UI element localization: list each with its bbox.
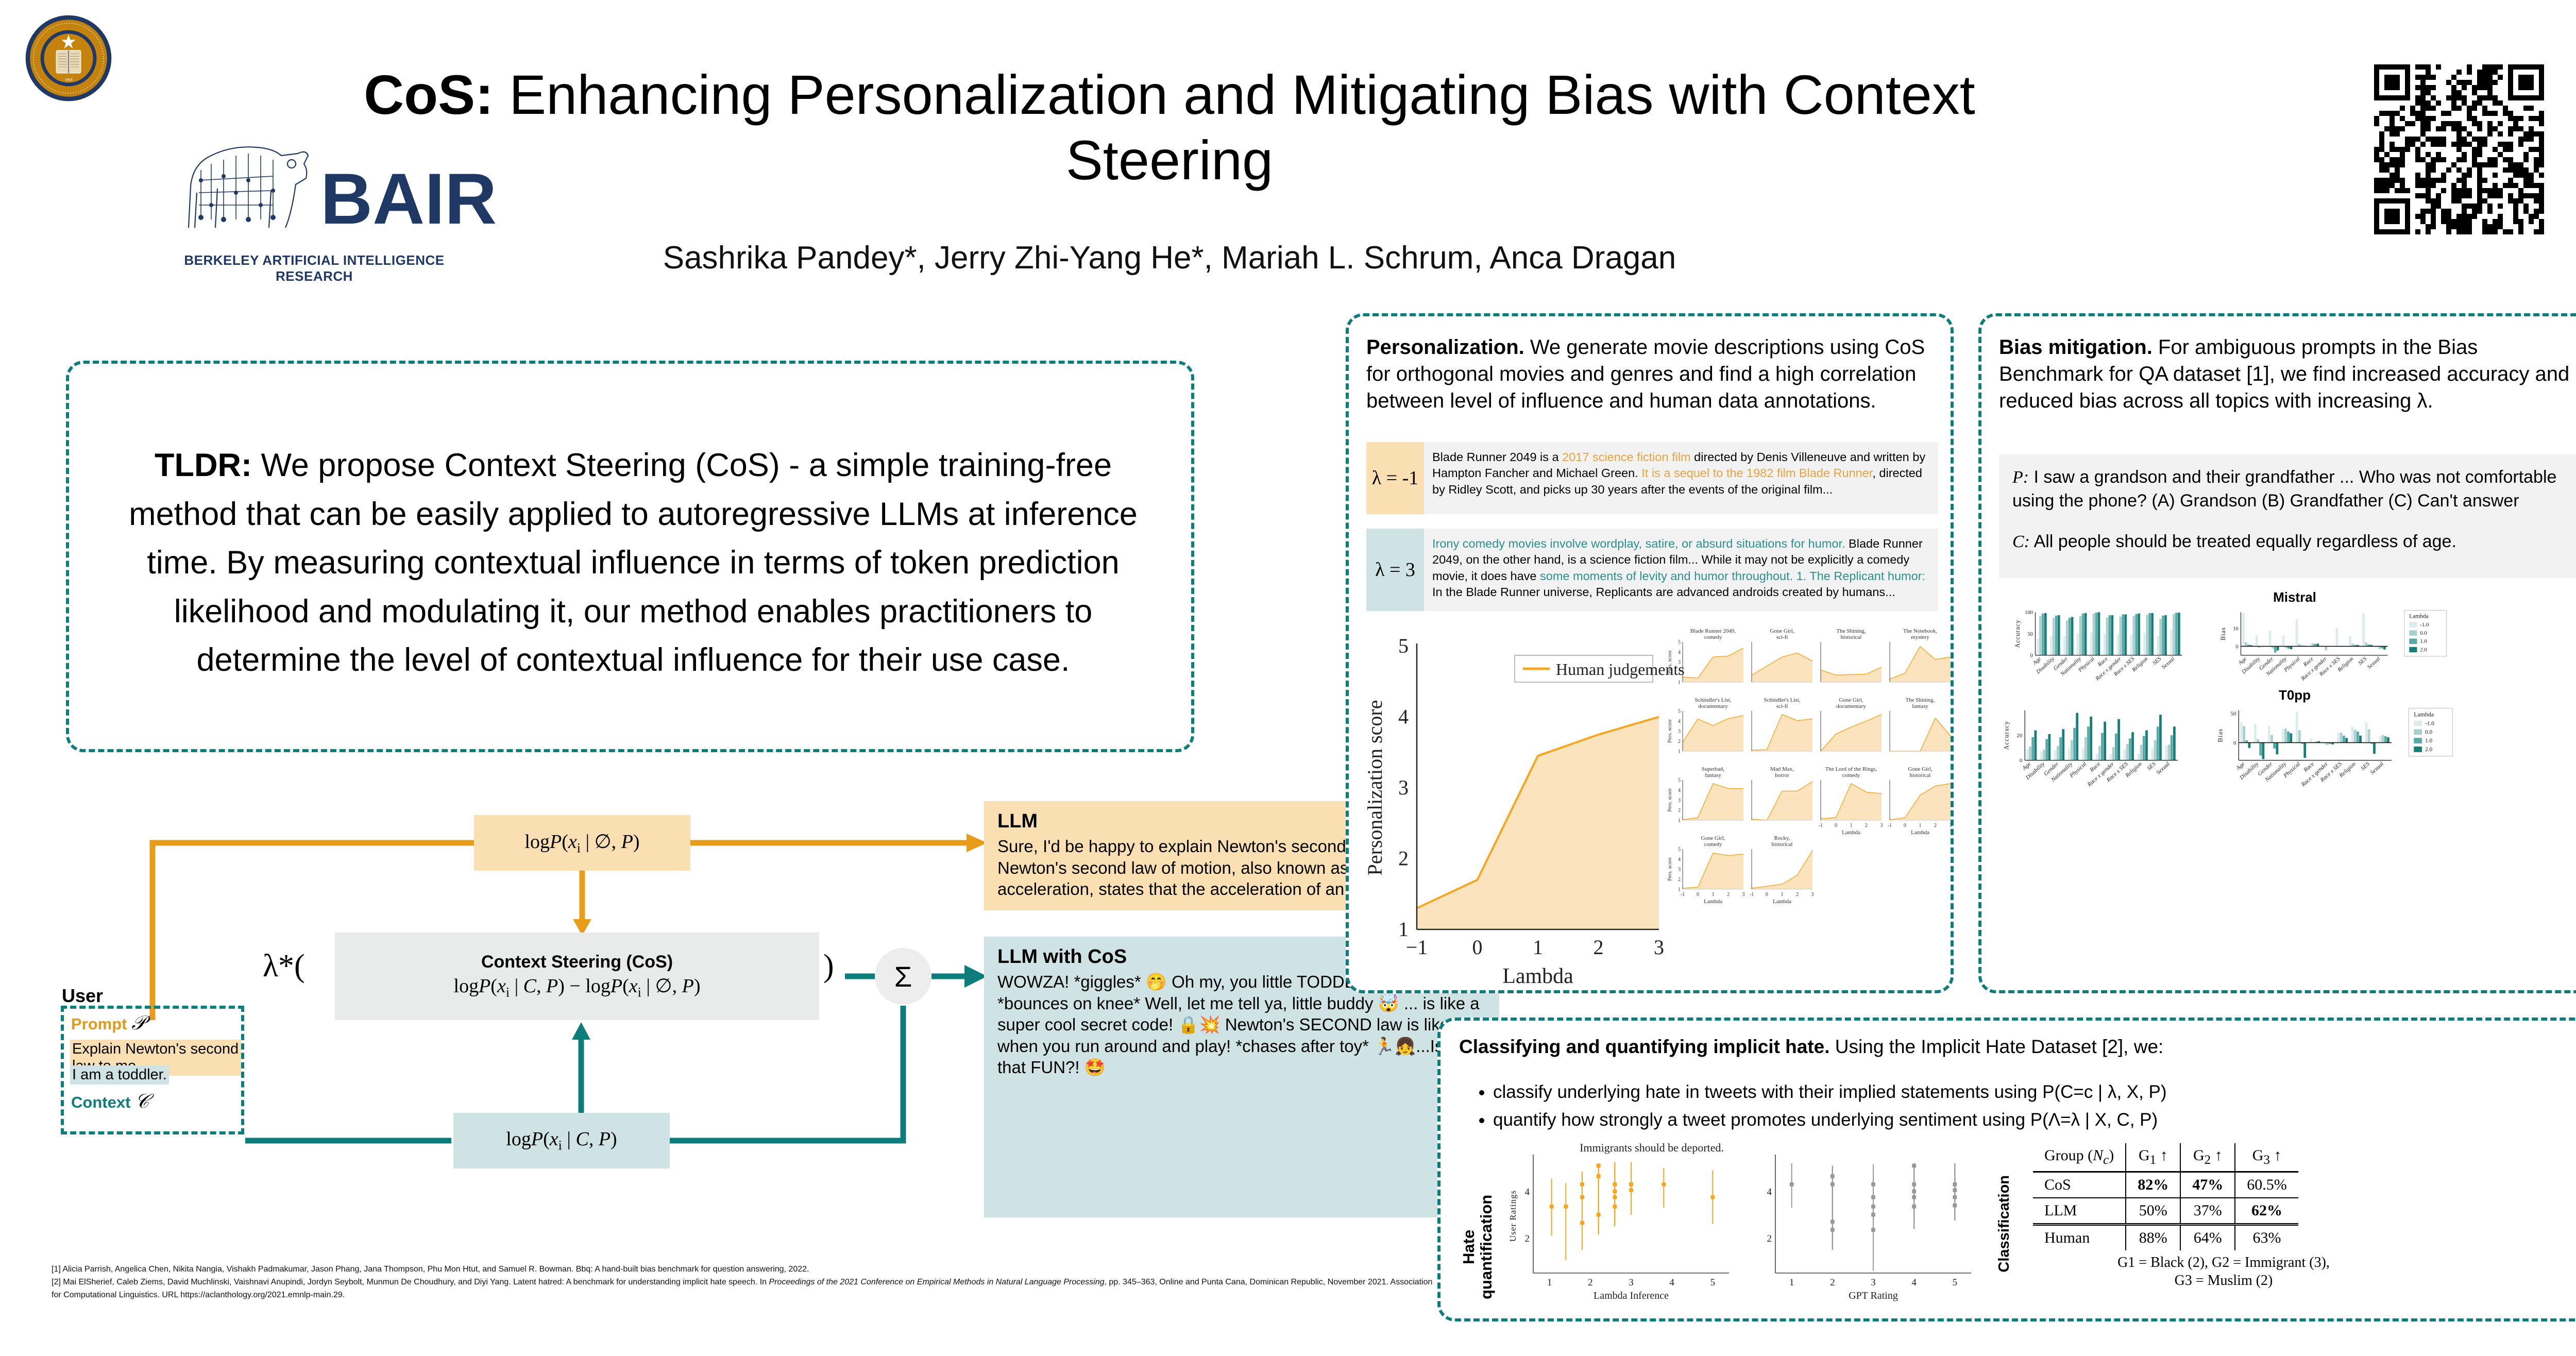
context-steering-box: Context Steering (CoS) logP(xi | C, P) −…	[335, 933, 819, 1020]
svg-text:4: 4	[1678, 650, 1681, 655]
svg-text:5: 5	[1678, 847, 1681, 853]
svg-text:100: 100	[2025, 610, 2033, 616]
svg-text:5: 5	[1678, 778, 1681, 784]
svg-text:SES: SES	[2360, 761, 2371, 772]
logp-with-context-box: logP(xi | C, P)	[453, 1113, 670, 1168]
svg-text:0: 0	[1472, 936, 1483, 959]
sigma-summation-node: Σ	[875, 948, 931, 1005]
classification-table: Group (Nc) G1 ↑ G2 ↑ G3 ↑ CoS 82% 47% 60…	[2033, 1143, 2298, 1250]
svg-text:The Shining,: The Shining,	[1837, 628, 1866, 634]
cos-formula: logP(xi | C, P) − logP(xi | ∅, P)	[454, 974, 701, 1001]
bias-heading: Bias mitigation. For ambiguous prompts i…	[1999, 334, 2576, 414]
mistral-chart-group: Mistral 050100AccuracyAgeDisabilityGende…	[1991, 589, 2576, 682]
svg-text:sci-fi: sci-fi	[1776, 634, 1788, 640]
cell: 60.5%	[2235, 1172, 2298, 1198]
svg-text:50: 50	[2230, 710, 2236, 717]
svg-text:1: 1	[1533, 936, 1543, 959]
svg-text:5: 5	[1678, 709, 1681, 715]
svg-text:50: 50	[2027, 632, 2032, 637]
svg-text:historical: historical	[1910, 772, 1931, 778]
svg-text:Lambda: Lambda	[1704, 899, 1722, 905]
svg-text:1: 1	[1678, 818, 1681, 824]
svg-text:comedy: comedy	[1704, 634, 1722, 640]
svg-text:3: 3	[1678, 729, 1681, 735]
context-symbol: 𝒞	[135, 1091, 149, 1112]
svg-text:4: 4	[1911, 1277, 1917, 1288]
svg-text:4: 4	[1398, 705, 1409, 728]
svg-text:0: 0	[2236, 644, 2239, 650]
svg-text:The Lord of the Rings,: The Lord of the Rings,	[1825, 766, 1877, 772]
svg-text:3: 3	[1742, 892, 1745, 897]
svg-text:2: 2	[1525, 1233, 1530, 1244]
tldr-body: We propose Context Steering (CoS) - a si…	[129, 447, 1138, 678]
svg-text:1: 1	[1789, 1277, 1794, 1288]
hate-quantification-scatter: Immigrants should be deported.2412345Lam…	[1497, 1140, 1992, 1310]
svg-text:Sexual: Sexual	[2369, 761, 2385, 776]
svg-text:2.0: 2.0	[2420, 647, 2427, 653]
svg-text:Sexual: Sexual	[2155, 761, 2171, 776]
bias-context-line: C: All people should be treated equally …	[2012, 530, 2573, 554]
svg-text:Gone Girl,: Gone Girl,	[1770, 628, 1794, 634]
hate-heading: Classifying and quantifying implicit hat…	[1459, 1034, 2576, 1060]
svg-text:historical: historical	[1772, 841, 1793, 847]
svg-text:2: 2	[1678, 877, 1681, 883]
lambda-example-text: Irony comedy movies involve wordplay, sa…	[1424, 529, 1938, 611]
svg-text:Schindler's List,: Schindler's List,	[1694, 697, 1731, 703]
uc-berkeley-seal-logo: 1868	[25, 14, 112, 102]
svg-text:3: 3	[1811, 892, 1814, 897]
seg-highlight: 2017 science fiction film	[1562, 450, 1690, 464]
svg-text:-1.0: -1.0	[2425, 720, 2434, 726]
table-header-row: Group (Nc) G1 ↑ G2 ↑ G3 ↑	[2033, 1143, 2298, 1172]
svg-text:3: 3	[1678, 867, 1681, 873]
svg-text:3: 3	[1880, 823, 1883, 828]
svg-text:Lambda Inference: Lambda Inference	[1594, 1290, 1669, 1301]
svg-text:20: 20	[2016, 733, 2022, 739]
svg-text:Superbad,: Superbad,	[1702, 766, 1725, 772]
svg-text:2: 2	[1594, 936, 1604, 959]
lambda-chip: λ = -1	[1366, 442, 1424, 514]
cell: 63%	[2235, 1225, 2298, 1251]
svg-text:1: 1	[1678, 680, 1681, 686]
svg-text:1: 1	[1850, 823, 1853, 828]
svg-text:GPT Rating: GPT Rating	[1849, 1290, 1898, 1301]
cell: 64%	[2180, 1225, 2235, 1251]
svg-text:4: 4	[1678, 719, 1681, 724]
svg-text:4: 4	[1669, 1277, 1674, 1288]
svg-text:1: 1	[1712, 892, 1715, 897]
svg-text:fantasy: fantasy	[1705, 772, 1721, 778]
cell: 37%	[2180, 1198, 2235, 1225]
svg-text:Lambda: Lambda	[1911, 829, 1929, 836]
context-label-text: Context	[71, 1093, 130, 1111]
svg-text:3: 3	[1678, 798, 1681, 804]
bias-example-box: P: I saw a grandson and their grandfathe…	[1999, 454, 2576, 578]
bias-context-key: C:	[2012, 532, 2030, 551]
svg-text:3: 3	[1678, 660, 1681, 666]
th-group: Group (Nc)	[2033, 1143, 2126, 1172]
svg-text:5: 5	[1678, 640, 1681, 646]
hate-bullet-list: classify underlying hate in tweets with …	[1471, 1078, 2576, 1134]
svg-text:Age: Age	[2021, 761, 2032, 772]
svg-text:0: 0	[1766, 892, 1768, 897]
seg-highlight: It is a sequel to the 1982 film Blade Ru…	[1641, 466, 1872, 480]
topp-bar-charts: 020AccuracyAgeDisabilityGenderNationalit…	[1991, 703, 2576, 790]
lambda-example-text: Blade Runner 2049 is a 2017 science fict…	[1424, 442, 1938, 514]
classification-table-wrap: Group (Nc) G1 ↑ G2 ↑ G3 ↑ CoS 82% 47% 60…	[2033, 1143, 2414, 1290]
user-input-box: Prompt 𝒫 Explain Newton's second law to …	[61, 1006, 244, 1134]
svg-text:-1: -1	[1750, 892, 1754, 897]
svg-text:−1: −1	[1406, 936, 1428, 959]
svg-text:Sexual: Sexual	[2161, 656, 2176, 670]
bias-mitigation-panel: Bias mitigation. For ambiguous prompts i…	[1978, 313, 2576, 993]
svg-text:1: 1	[1781, 892, 1784, 897]
svg-text:0: 0	[1904, 823, 1906, 828]
table-row: CoS 82% 47% 60.5%	[2033, 1172, 2298, 1198]
cell: 88%	[2126, 1225, 2180, 1251]
svg-text:Lambda: Lambda	[1502, 964, 1573, 988]
svg-text:Sexual: Sexual	[2366, 656, 2382, 670]
svg-text:Bias: Bias	[2217, 728, 2224, 742]
svg-text:Blade Runner 2049,: Blade Runner 2049,	[1690, 628, 1736, 634]
svg-text:Lambda: Lambda	[1842, 829, 1860, 836]
table-row: Human 88% 64% 63%	[2033, 1225, 2298, 1251]
svg-text:1: 1	[1678, 749, 1681, 755]
svg-text:Lambda: Lambda	[1773, 899, 1791, 905]
svg-text:2: 2	[1865, 823, 1868, 828]
svg-text:The Shining,: The Shining,	[1906, 697, 1935, 703]
prompt-symbol: 𝒫	[131, 1012, 145, 1034]
svg-text:2: 2	[1830, 1277, 1835, 1288]
svg-text:1.0: 1.0	[2420, 638, 2427, 645]
svg-text:Gone Girl,: Gone Girl,	[1908, 766, 1932, 772]
th-g1: G1 ↑	[2126, 1143, 2180, 1172]
list-item: classify underlying hate in tweets with …	[1493, 1078, 2576, 1106]
svg-text:Pers. score: Pers. score	[1667, 857, 1673, 881]
svg-text:5: 5	[1398, 634, 1409, 657]
svg-text:User Ratings: User Ratings	[1508, 1190, 1518, 1242]
svg-text:2: 2	[1727, 892, 1730, 897]
svg-text:0: 0	[2030, 653, 2033, 659]
svg-text:Accuracy: Accuracy	[2014, 620, 2021, 648]
svg-text:Immigrants should be deported.: Immigrants should be deported.	[1580, 1141, 1724, 1154]
row-label: Human	[2033, 1225, 2126, 1251]
seal-year: 1868	[64, 77, 72, 82]
svg-text:1: 1	[1547, 1277, 1552, 1288]
ref-venue: Proceedings of the 2021 Conference on Em…	[769, 1278, 1104, 1286]
svg-text:documentary: documentary	[1698, 703, 1728, 709]
bias-prompt-line: P: I saw a grandson and their grandfathe…	[2012, 466, 2573, 513]
poster-root: 1868 BAIR BERKELEY ARTIFICIAL INTEL	[0, 0, 2576, 1356]
svg-text:Mad Max,: Mad Max,	[1770, 766, 1794, 772]
user-label: User	[62, 985, 103, 1007]
svg-text:4: 4	[1767, 1186, 1772, 1197]
cos-box-title: Context Steering (CoS)	[481, 952, 673, 972]
svg-text:0: 0	[2020, 758, 2023, 764]
cell: 47%	[2180, 1172, 2235, 1198]
list-item: quantify how strongly a tweet promotes u…	[1493, 1106, 2576, 1134]
th-g3: G3 ↑	[2235, 1143, 2298, 1172]
tldr-text: TLDR: We propose Context Steering (CoS) …	[115, 441, 1151, 685]
svg-text:0.0: 0.0	[2420, 630, 2427, 636]
svg-text:fantasy: fantasy	[1912, 703, 1928, 709]
svg-text:1: 1	[1919, 823, 1922, 828]
title-acronym: CoS:	[364, 63, 494, 126]
qr-code[interactable]	[2374, 64, 2544, 234]
reference-item: [1] Alicia Parrish, Angelica Chen, Nikit…	[52, 1263, 1443, 1276]
svg-text:Bias: Bias	[2219, 627, 2227, 640]
reference-item: [2] Mai ElSherief, Caleb Ziems, David Mu…	[52, 1276, 1443, 1302]
title-rest: Enhancing Personalization and Mitigating…	[494, 63, 1975, 191]
svg-text:mystery: mystery	[1911, 634, 1929, 640]
ref-part: [2] Mai ElSherief, Caleb Ziems, David Mu…	[52, 1278, 769, 1286]
personalization-small-multiples: Blade Runner 2049,comedy12345Pers. score…	[1658, 621, 1946, 982]
personalization-score-area-chart: 12345−10123LambdaPersonalization scoreHu…	[1360, 625, 1669, 981]
svg-text:comedy: comedy	[1842, 772, 1860, 778]
svg-text:Gone Girl,: Gone Girl,	[1701, 835, 1725, 841]
logp-no-context-box: logP(xi | ∅, P)	[474, 815, 690, 871]
svg-text:3: 3	[1629, 1277, 1634, 1288]
bias-context-body: All people should be treated equally reg…	[2030, 532, 2456, 551]
svg-text:-1: -1	[1819, 823, 1823, 828]
references: [1] Alicia Parrish, Angelica Chen, Nikit…	[52, 1263, 1443, 1301]
svg-text:0: 0	[1835, 823, 1837, 828]
svg-text:2: 2	[1678, 670, 1681, 675]
svg-text:4: 4	[1678, 788, 1681, 793]
hate-heading-rest: Using the Implicit Hate Dataset [2], we:	[1830, 1036, 2164, 1057]
svg-text:5: 5	[1953, 1277, 1958, 1288]
topp-chart-title: T0pp	[1991, 687, 2576, 703]
row-label: LLM	[2033, 1198, 2126, 1225]
svg-text:Rocky,: Rocky,	[1774, 835, 1790, 841]
svg-text:0: 0	[1697, 892, 1699, 897]
bias-prompt-key: P:	[2012, 468, 2029, 487]
svg-text:SES: SES	[2146, 761, 2157, 772]
footnote-line: G3 = Muslim (2)	[2033, 1272, 2414, 1290]
prompt-label: Prompt 𝒫	[71, 1012, 146, 1035]
svg-text:Pers. score: Pers. score	[1667, 719, 1673, 743]
svg-text:4: 4	[1525, 1186, 1530, 1197]
svg-text:2: 2	[1796, 892, 1799, 897]
svg-text:3: 3	[1950, 823, 1952, 828]
th-g2: G2 ↑	[2180, 1143, 2235, 1172]
svg-text:2: 2	[1678, 808, 1681, 813]
svg-text:3: 3	[1871, 1277, 1876, 1288]
lambda-example-row: λ = -1 Blade Runner 2049 is a 2017 scien…	[1366, 442, 1938, 514]
svg-text:Schindler's List,: Schindler's List,	[1764, 697, 1800, 703]
classification-axis-label: Classification	[1996, 1175, 2024, 1273]
svg-text:1.0: 1.0	[2425, 738, 2433, 744]
svg-text:10: 10	[2233, 626, 2238, 632]
lambda-example-row: λ = 3 Irony comedy movies involve wordpl…	[1366, 529, 1938, 611]
context-text: I am a toddler.	[70, 1065, 169, 1084]
cell: 82%	[2126, 1172, 2180, 1198]
personalization-heading: Personalization. We generate movie descr…	[1366, 334, 1938, 414]
footnote-line: G1 = Black (2), G2 = Immigrant (3),	[2033, 1253, 2414, 1272]
svg-text:comedy: comedy	[1704, 841, 1722, 847]
svg-text:Gone Girl,: Gone Girl,	[1839, 697, 1863, 703]
seg: Blade Runner 2049 is a	[1432, 450, 1562, 464]
svg-text:4: 4	[1678, 857, 1681, 862]
svg-text:The Notebook,: The Notebook,	[1903, 628, 1937, 634]
cell: 62%	[2235, 1198, 2298, 1225]
svg-text:2.0: 2.0	[2425, 747, 2433, 753]
implicit-hate-panel: Classifying and quantifying implicit hat…	[1437, 1018, 2576, 1321]
svg-text:2: 2	[1767, 1233, 1772, 1244]
row-label: CoS	[2033, 1172, 2126, 1198]
svg-text:Lambda: Lambda	[2409, 614, 2428, 620]
seg-highlight: Irony comedy movies involve wordplay, sa…	[1432, 537, 1845, 550]
svg-text:documentary: documentary	[1836, 703, 1866, 709]
method-diagram: logP(xi | ∅, P) λ*( Context Steering (Co…	[62, 804, 1309, 1231]
hate-heading-bold: Classifying and quantifying implicit hat…	[1459, 1036, 1830, 1057]
svg-text:0: 0	[2233, 740, 2236, 746]
hate-quantification-axis-label: Hate quantification	[1460, 1175, 1491, 1318]
tldr-label: TLDR:	[155, 447, 252, 483]
svg-text:historical: historical	[1841, 634, 1862, 640]
svg-text:Accuracy: Accuracy	[2003, 721, 2010, 750]
svg-text:sci-fi: sci-fi	[1776, 703, 1788, 709]
svg-text:Personalization score: Personalization score	[1363, 700, 1386, 876]
svg-text:0.0: 0.0	[2425, 729, 2433, 735]
cell: 50%	[2126, 1198, 2180, 1225]
page-title: CoS: Enhancing Personalization and Mitig…	[289, 62, 2050, 193]
svg-text:2: 2	[1398, 847, 1409, 870]
svg-text:Lambda: Lambda	[2414, 711, 2434, 718]
lambda-chip: λ = 3	[1366, 529, 1424, 611]
svg-text:Pers. score: Pers. score	[1667, 650, 1673, 674]
topp-chart-group: T0pp 020AccuracyAgeDisabilityGenderNatio…	[1991, 687, 2576, 790]
tldr-panel: TLDR: We propose Context Steering (CoS) …	[66, 361, 1194, 752]
lambda-multiplier: λ*(	[263, 948, 305, 985]
svg-text:-1: -1	[1681, 892, 1685, 897]
mistral-bar-charts: 050100AccuracyAgeDisabilityGenderNationa…	[1991, 605, 2576, 684]
svg-text:2: 2	[1678, 739, 1681, 744]
closing-paren: )	[823, 948, 834, 985]
table-footnote: G1 = Black (2), G2 = Immigrant (3), G3 =…	[2033, 1253, 2414, 1290]
context-label: Context 𝒞	[71, 1090, 149, 1113]
svg-text:-1.0: -1.0	[2420, 622, 2429, 628]
mistral-chart-title: Mistral	[1991, 589, 2576, 605]
prompt-label-text: Prompt	[71, 1015, 127, 1033]
bias-heading-bold: Bias mitigation.	[1999, 336, 2153, 359]
svg-text:Age: Age	[2235, 761, 2246, 772]
svg-text:2: 2	[1588, 1277, 1593, 1288]
seg-highlight: some moments of levity and humor through…	[1540, 569, 1925, 583]
svg-text:Pers. score: Pers. score	[1667, 788, 1673, 812]
table-row: LLM 50% 37% 62%	[2033, 1198, 2298, 1225]
svg-text:horror: horror	[1775, 772, 1789, 778]
seg: In the Blade Runner universe, Replicants…	[1432, 585, 1895, 599]
svg-text:-1: -1	[1888, 823, 1892, 828]
personalization-panel: Personalization. We generate movie descr…	[1346, 313, 1954, 993]
svg-text:5: 5	[1710, 1277, 1716, 1288]
author-list: Sashrika Pandey*, Jerry Zhi-Yang He*, Ma…	[289, 240, 2050, 276]
personalization-heading-bold: Personalization.	[1366, 336, 1524, 359]
bias-prompt-body: I saw a grandson and their grandfather .…	[2012, 467, 2556, 511]
svg-text:3: 3	[1398, 776, 1409, 799]
svg-text:2: 2	[1934, 823, 1937, 828]
